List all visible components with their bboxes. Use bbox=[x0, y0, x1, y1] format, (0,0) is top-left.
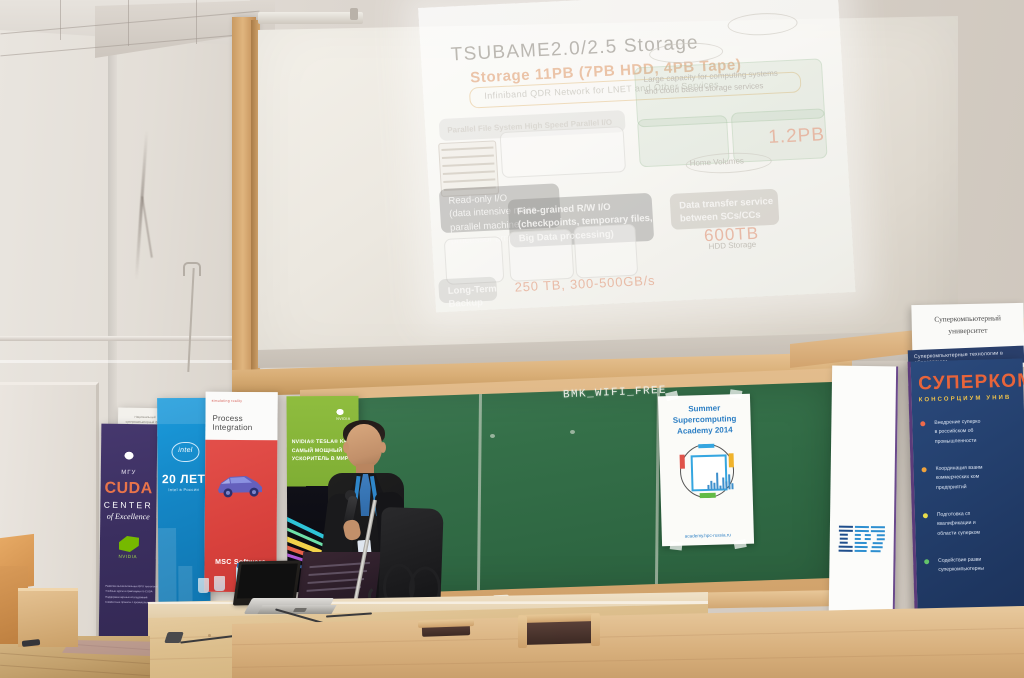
laptop-display bbox=[237, 564, 298, 599]
banner-cuda-bullet-3: Совместные проекты с промышленностью bbox=[105, 600, 151, 606]
banner-msc-header: simulating reality Process Integration bbox=[205, 392, 277, 441]
wall-trim bbox=[0, 336, 236, 341]
slide-ellipse-label-hdd: HDD Storage bbox=[708, 240, 756, 251]
banner-sc-white-lines: Суперкомпьютерный университет bbox=[911, 303, 1024, 338]
poster-summer-academy: Summer Supercomputing Academy 2014 acade… bbox=[658, 394, 754, 547]
banner-cuda-subtitle: CENTER bbox=[100, 500, 156, 511]
banner-sc-bullet-1-line-2: предприятий bbox=[936, 481, 1024, 493]
poster-line-3: Academy 2014 bbox=[677, 425, 733, 436]
banner-cuda-org: МГУ bbox=[101, 470, 157, 477]
speaker-head bbox=[346, 424, 382, 468]
banner-sc-white-line-1: Суперкомпьютерный bbox=[934, 313, 1001, 323]
chair-2 bbox=[518, 614, 600, 656]
drinking-glass-2 bbox=[214, 576, 225, 591]
banner-sc-bullet-1: Координация взаим коммерческих ком предп… bbox=[921, 462, 1024, 493]
banner-msc-title: Process Integration bbox=[212, 414, 277, 432]
car-icon bbox=[215, 466, 265, 500]
banner-nvidia-brand: NVIDIA bbox=[336, 417, 350, 421]
banner-cuda-sponsor: NVIDIA bbox=[100, 554, 156, 560]
banner-sc-bullet-0-line-2: промышленности bbox=[935, 435, 1024, 447]
banner-sc-bullet-3-line-1: суперкомпьютерны bbox=[938, 564, 1024, 576]
slide-box-text-5: Long-Term Backup bbox=[447, 282, 497, 311]
lecture-hall-photo: TSUBAME2.0/2.5 Storage Storage 11PB (7PB… bbox=[0, 0, 1024, 678]
slide-box-text-1: Large capacity for computing systems and… bbox=[643, 68, 779, 98]
slide-disk-box2 bbox=[573, 224, 638, 279]
speaker-ear-right bbox=[380, 442, 386, 453]
drinking-glass-1 bbox=[198, 578, 209, 593]
slide-ellipse-1 bbox=[727, 11, 798, 36]
banner-msc-eyebrow: simulating reality bbox=[212, 399, 243, 403]
banner-sc-bullet-2: Подготовка сп квалификации и области суп… bbox=[923, 508, 1024, 539]
wooden-cabinet bbox=[18, 588, 78, 647]
nvidia-logo-icon bbox=[119, 536, 139, 552]
wall-trim-highlight bbox=[0, 360, 236, 363]
banner-sc-bullet-0: Внедрение суперко в российском об промыш… bbox=[920, 416, 1024, 447]
poster-line-1: Summer bbox=[688, 404, 720, 414]
poster-heading: Summer Supercomputing Academy 2014 bbox=[658, 394, 751, 438]
screen-roller-cap bbox=[350, 8, 358, 20]
banner-sc-subhead: КОНСОРЦИУМ УНИВ bbox=[919, 395, 1012, 404]
slide-disk-box bbox=[507, 229, 574, 282]
banner-cuda-bullets: Развитие вычислительных GPU технологий У… bbox=[105, 584, 151, 606]
laptop-touchpad bbox=[293, 608, 307, 612]
slide-box-backup: Long-Term Backup bbox=[438, 276, 497, 303]
slide-box-text-4: Data transfer service between SCs/CCs bbox=[679, 195, 774, 226]
intel-logo-icon: intel bbox=[171, 442, 199, 462]
chip-bar-chart bbox=[707, 472, 733, 490]
projected-slide: TSUBAME2.0/2.5 Storage Storage 11PB (7PB… bbox=[418, 0, 856, 312]
ceiling-grid bbox=[0, 0, 260, 60]
banner-sc-bullet-3: Содействие разви суперкомпьютерны bbox=[924, 554, 1024, 576]
speaker-ear-left bbox=[343, 442, 349, 453]
slide-box-mid-left bbox=[500, 126, 627, 178]
poster-line-2: Supercomputing bbox=[673, 414, 737, 425]
banner-sc-white-line-2: университет bbox=[948, 325, 987, 335]
chair-1 bbox=[418, 620, 474, 648]
chip-core bbox=[691, 454, 728, 491]
banner-intel-subtext: Intel в России bbox=[158, 487, 210, 492]
nvidia-eye-icon bbox=[118, 446, 140, 462]
banner-cuda-tagline: of Excellence bbox=[100, 512, 156, 522]
chip-icon bbox=[679, 443, 734, 498]
banner-sc-bullet-2-line-2: области суперком bbox=[937, 527, 1024, 539]
nvidia-eye-icon-green bbox=[331, 404, 350, 417]
poster-url: academy.hpc-russia.ru bbox=[662, 532, 754, 540]
banner-cuda-title: CUDA bbox=[101, 480, 157, 499]
ibm-logo-icon bbox=[839, 526, 885, 555]
slide-box-transfer: Data transfer service between SCs/CCs bbox=[669, 189, 779, 230]
banner-intel-headline: 20 ЛЕТ bbox=[158, 472, 210, 486]
screen-roller bbox=[258, 12, 363, 24]
banner-sc-headline: СУПЕРКОМП bbox=[918, 370, 1024, 396]
wall-hook bbox=[183, 262, 201, 276]
poster-tape-right bbox=[729, 389, 742, 399]
poster-tape-bl bbox=[670, 541, 683, 550]
slide-label-capacity-right: 1.2PB bbox=[768, 124, 826, 149]
banner-intel-logo-text: intel bbox=[172, 447, 198, 454]
